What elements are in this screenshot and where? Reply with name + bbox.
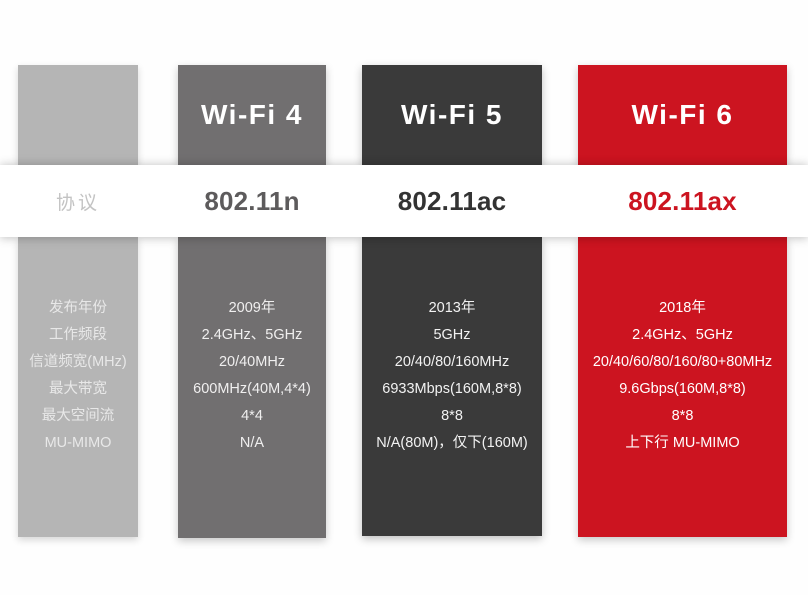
row-label-channel-width: 信道频宽(MHz) — [29, 349, 126, 376]
wifi4-max-bandwidth: 600MHz(40M,4*4) — [193, 376, 311, 403]
wifi6-body: 2018年 2.4GHz、5GHz 20/40/60/80/160/80+80M… — [578, 237, 787, 537]
wifi4-header: Wi-Fi 4 — [178, 65, 326, 165]
protocol-value-wifi5: 802.11ac — [362, 165, 542, 237]
wifi4-title: Wi-Fi 4 — [201, 99, 303, 131]
wifi6-mu-mimo: 上下行 MU-MIMO — [625, 430, 739, 457]
column-wifi4: Wi-Fi 4 2009年 2.4GHz、5GHz 20/40MHz 600MH… — [178, 65, 326, 538]
wifi6-header: Wi-Fi 6 — [578, 65, 787, 165]
wifi6-release-year: 2018年 — [659, 295, 706, 322]
column-row-labels: 发布年份 工作频段 信道频宽(MHz) 最大带宽 最大空间流 MU-MIMO — [18, 65, 138, 537]
column-wifi5: Wi-Fi 5 2013年 5GHz 20/40/80/160MHz 6933M… — [362, 65, 542, 536]
wifi5-release-year: 2013年 — [429, 295, 476, 322]
row-label-max-bandwidth: 最大带宽 — [49, 376, 107, 403]
wifi6-max-bandwidth: 9.6Gbps(160M,8*8) — [619, 376, 746, 403]
row-label-mu-mimo: MU-MIMO — [45, 430, 112, 457]
wifi5-max-streams: 8*8 — [441, 403, 463, 430]
wifi5-title: Wi-Fi 5 — [401, 99, 503, 131]
wifi6-max-streams: 8*8 — [672, 403, 694, 430]
wifi4-mu-mimo: N/A — [240, 430, 264, 457]
row-label-max-streams: 最大空间流 — [42, 403, 115, 430]
wifi6-channel-width: 20/40/60/80/160/80+80MHz — [593, 349, 772, 376]
wifi4-frequency-band: 2.4GHz、5GHz — [202, 322, 303, 349]
row-label-frequency-band: 工作频段 — [49, 322, 107, 349]
protocol-value-wifi4: 802.11n — [178, 165, 326, 237]
wifi5-header: Wi-Fi 5 — [362, 65, 542, 165]
column-wifi6: Wi-Fi 6 2018年 2.4GHz、5GHz 20/40/60/80/16… — [578, 65, 787, 537]
protocol-value-wifi6: 802.11ax — [578, 165, 787, 237]
comparison-table-figure: 发布年份 工作频段 信道频宽(MHz) 最大带宽 最大空间流 MU-MIMO W… — [0, 0, 808, 595]
protocol-row-band: 协议 802.11n 802.11ac 802.11ax — [0, 165, 808, 237]
wifi5-max-bandwidth: 6933Mbps(160M,8*8) — [382, 376, 521, 403]
wifi4-release-year: 2009年 — [229, 295, 276, 322]
wifi6-title: Wi-Fi 6 — [631, 99, 733, 131]
protocol-row-label: 协议 — [18, 165, 138, 237]
row-label-release-year: 发布年份 — [49, 295, 107, 322]
wifi5-frequency-band: 5GHz — [433, 322, 470, 349]
wifi4-channel-width: 20/40MHz — [219, 349, 285, 376]
wifi5-mu-mimo: N/A(80M)，仅下(160M) — [376, 430, 527, 457]
label-column-body: 发布年份 工作频段 信道频宽(MHz) 最大带宽 最大空间流 MU-MIMO — [18, 237, 138, 537]
wifi4-body: 2009年 2.4GHz、5GHz 20/40MHz 600MHz(40M,4*… — [178, 237, 326, 538]
wifi5-body: 2013年 5GHz 20/40/80/160MHz 6933Mbps(160M… — [362, 237, 542, 536]
wifi4-max-streams: 4*4 — [241, 403, 263, 430]
label-column-header-block — [18, 65, 138, 165]
wifi5-channel-width: 20/40/80/160MHz — [395, 349, 509, 376]
wifi6-frequency-band: 2.4GHz、5GHz — [632, 322, 733, 349]
